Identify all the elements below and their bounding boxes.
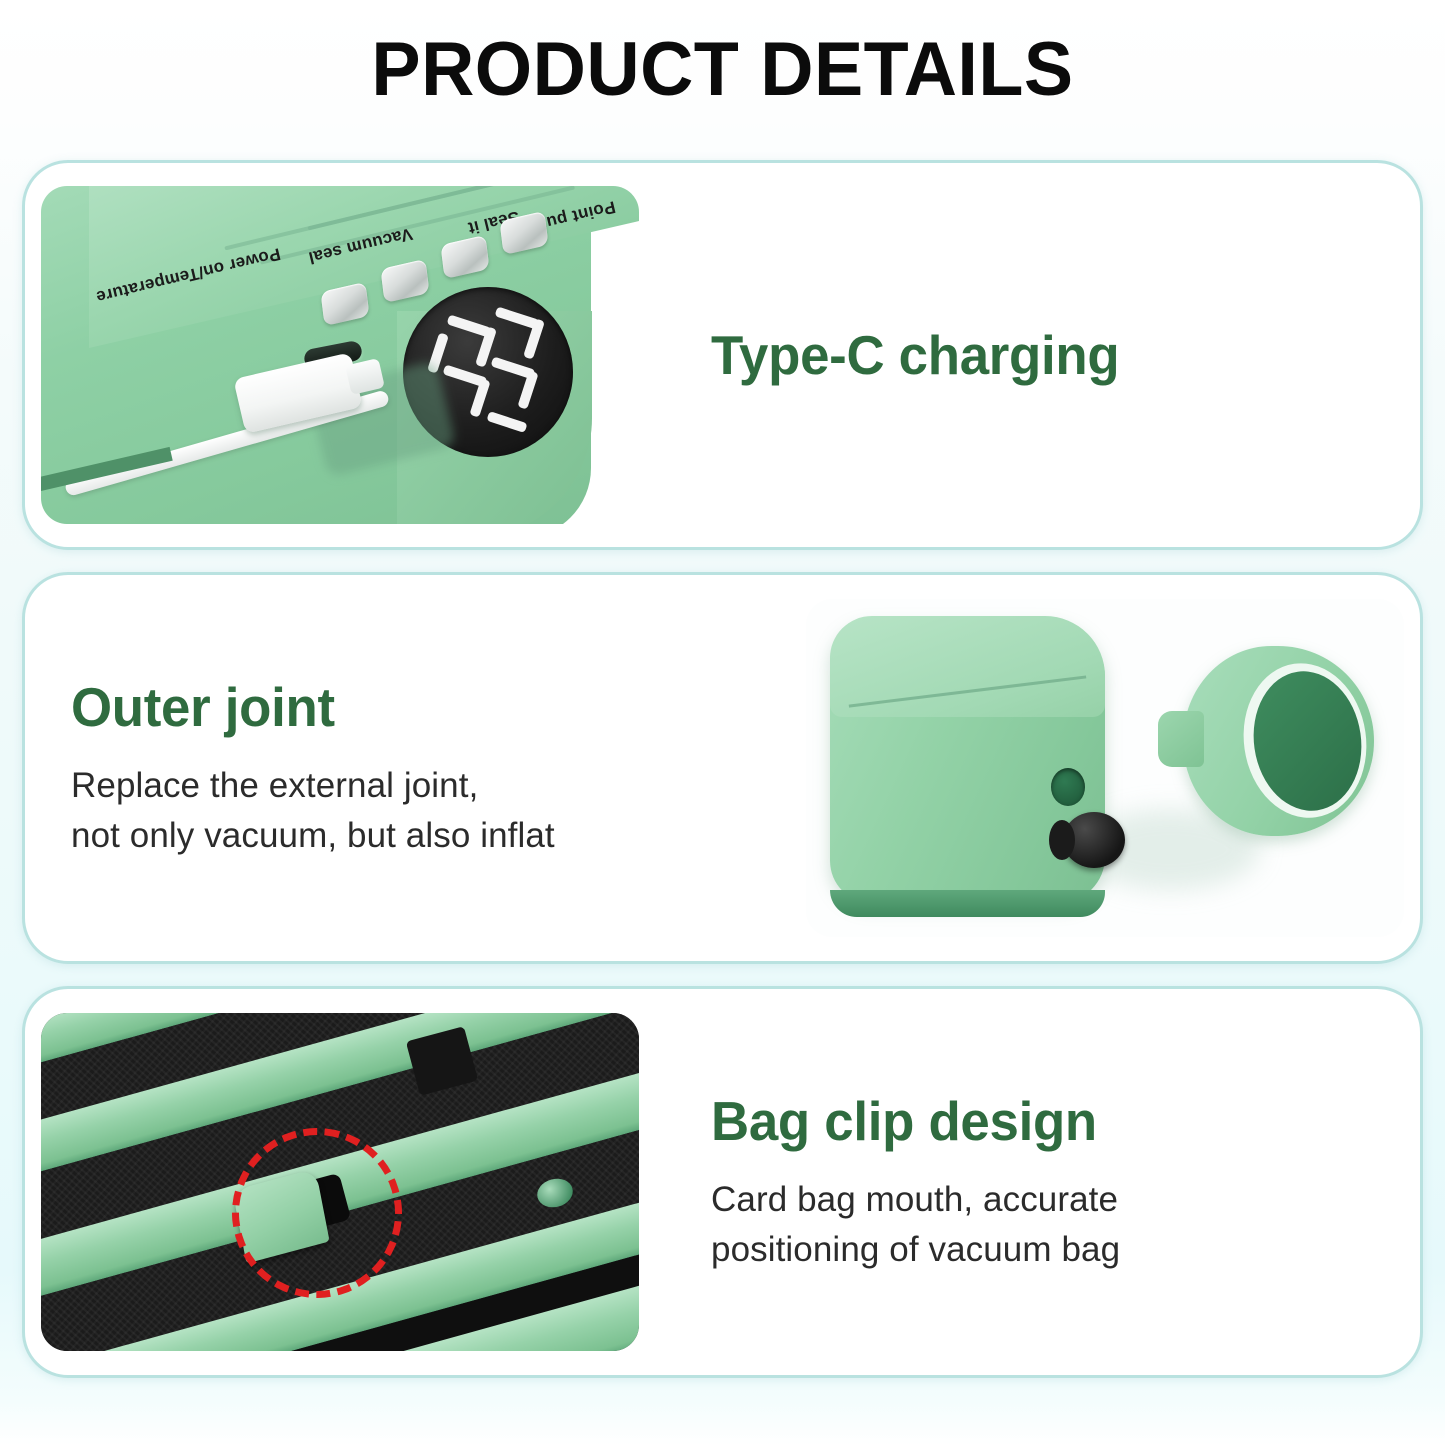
- display-segment: [518, 371, 539, 410]
- feature-card-bag-clip-design: Bag clip design Card bag mouth, accurate…: [22, 986, 1423, 1378]
- feature-body-line: Replace the external joint,: [71, 761, 734, 811]
- feature-body-line: Card bag mouth, accurate: [711, 1175, 1380, 1225]
- feature-heading-type-c-charging: Type-C charging: [711, 323, 1353, 387]
- feature-card-outer-joint: Outer joint Replace the external joint, …: [22, 572, 1423, 964]
- feature-body-line: positioning of vacuum bag: [711, 1225, 1380, 1275]
- feature-body-line: not only vacuum, but also inflat: [71, 811, 734, 861]
- media-slot-type-c-charging: Power on/Temperature Vacuum seal Seal it…: [25, 163, 655, 547]
- text-slot-outer-joint: Outer joint Replace the external joint, …: [25, 675, 790, 860]
- feature-card-type-c-charging: Power on/Temperature Vacuum seal Seal it…: [22, 160, 1423, 550]
- feature-body-outer-joint: Replace the external joint, not only vac…: [71, 761, 734, 860]
- display-segment: [487, 411, 528, 433]
- funnel-stem: [1158, 711, 1204, 768]
- text-slot-bag-clip-design: Bag clip design Card bag mouth, accurate…: [655, 1089, 1420, 1274]
- page-title: PRODUCT DETAILS: [22, 0, 1424, 108]
- text-slot-type-c-charging: Type-C charging: [655, 323, 1420, 387]
- media-slot-bag-clip-design: [25, 989, 655, 1375]
- sealer-body-base: [830, 890, 1105, 917]
- feature-body-bag-clip-design: Card bag mouth, accurate positioning of …: [711, 1175, 1380, 1274]
- media-slot-outer-joint: [790, 575, 1420, 961]
- feature-heading-bag-clip-design: Bag clip design: [711, 1089, 1353, 1153]
- product-image-bag-clip-design: [41, 1013, 639, 1351]
- feature-heading-outer-joint: Outer joint: [71, 675, 707, 739]
- black-nozzle: [1063, 812, 1125, 868]
- display-segment: [470, 379, 491, 418]
- feature-card-list: Power on/Temperature Vacuum seal Seal it…: [22, 160, 1423, 1378]
- product-image-outer-joint: [806, 599, 1404, 937]
- joint-socket: [1051, 768, 1085, 806]
- product-image-type-c-charging: Power on/Temperature Vacuum seal Seal it…: [41, 186, 639, 524]
- funnel-attachment: [1183, 646, 1374, 835]
